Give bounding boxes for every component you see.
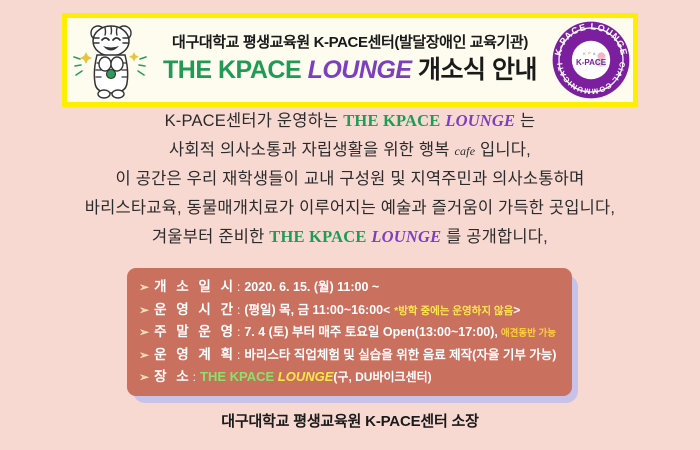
details-row-operating-hours: ➢ 운 영 시 간 : (평일) 목, 금 11:00~16:00 < *방학 … — [139, 298, 562, 321]
details-row-location: ➢ 장 소 : THE KPACE LOUNGE (구, DU바이크센터) — [139, 365, 562, 388]
body-line-5-lounge: LOUNGE — [371, 227, 441, 246]
details-note-open-angle: < — [383, 303, 390, 317]
footer-signature: 대구대학교 평생교육원 K-PACE센터 소장 — [0, 410, 700, 431]
details-value-program-plan: 바리스타 직업체험 및 실습을 위한 음료 제작(자율 기부 가능) — [244, 344, 556, 363]
body-paragraph: K-PACE센터가 운영하는 THE KPACE LOUNGE 는 사회적 의사… — [0, 113, 700, 258]
body-line-4: 바리스타교육, 동물매개치료가 이루어지는 예술과 즐거움이 가득한 곳입니다, — [0, 200, 700, 229]
details-label-operating-hours: 운 영 시 간 — [154, 298, 236, 318]
header-subtitle: 대구대학교 평생교육원 K-PACE센터(발달장애인 교육기관) — [155, 34, 545, 52]
header-title-kpace: THE KPACE — [163, 56, 301, 84]
header-banner: 대구대학교 평생교육원 K-PACE센터(발달장애인 교육기관) THE KPA… — [62, 13, 638, 107]
kpace-lounge-logo: K-PACE LOUNGE SOCIAL COMMUNICATION K-PAC… — [549, 18, 633, 102]
details-colon-4: : — [193, 370, 196, 384]
details-colon-0: : — [237, 280, 240, 294]
svg-text:K-PACE: K-PACE — [576, 58, 607, 67]
body-line-2-post: 입니다, — [475, 141, 531, 159]
body-line-2-pre: 사회적 의사소통과 자립생활을 위한 행복 — [169, 141, 454, 159]
details-row-program-plan: ➢ 운 영 계 획 : 바리스타 직업체험 및 실습을 위한 음료 제작(자율 … — [139, 343, 562, 366]
bullet-arrow-icon: ➢ — [139, 280, 149, 294]
body-line-3: 이 공간은 우리 재학생들이 교내 구성원 및 지역주민과 의사소통하며 — [0, 171, 700, 200]
details-colon-1: : — [237, 303, 240, 317]
details-location-suffix: (구, DU바이크센터) — [333, 368, 431, 385]
details-box: ➢ 개 소 일 시 : 2020. 6. 15. (월) 11:00 ~ ➢ 운… — [127, 268, 572, 396]
details-label-opening-date: 개 소 일 시 — [154, 275, 236, 295]
details-value-opening-date: 2020. 6. 15. (월) 11:00 ~ — [244, 276, 379, 295]
details-value-weekend: 7. 4 (토) 부터 매주 토요일 Open(13:00~17:00), — [244, 321, 498, 340]
body-line-2: 사회적 의사소통과 자립생활을 위한 행복 cafe 입니다, — [0, 142, 700, 171]
header-title-korean: 개소식 안내 — [418, 56, 537, 84]
body-line-5-post: 를 공개합니다, — [441, 228, 548, 246]
bullet-arrow-icon: ➢ — [139, 348, 149, 362]
body-line-1: K-PACE센터가 운영하는 THE KPACE LOUNGE 는 — [0, 113, 700, 142]
body-line-1-lounge: LOUNGE — [445, 111, 515, 130]
details-label-weekend: 주 말 운 영 — [154, 320, 236, 340]
details-label-program-plan: 운 영 계 획 — [154, 343, 236, 363]
details-colon-2: : — [237, 325, 240, 339]
body-line-1-kpace: THE KPACE — [343, 111, 440, 130]
white-tiger-mascot — [67, 18, 155, 102]
header-title-lounge: LOUNGE — [308, 56, 412, 84]
details-location-kpace: THE KPACE — [200, 369, 274, 384]
body-line-1-pre: K-PACE센터가 운영하는 — [165, 112, 344, 130]
details-row-weekend: ➢ 주 말 운 영 : 7. 4 (토) 부터 매주 토요일 Open(13:0… — [139, 320, 562, 343]
details-note-vacation: *방학 중에는 운영하지 않음 — [394, 303, 513, 318]
details-note-pet-allowed: 애견동반 가능 — [501, 325, 556, 339]
bullet-arrow-icon: ➢ — [139, 325, 149, 339]
details-row-opening-date: ➢ 개 소 일 시 : 2020. 6. 15. (월) 11:00 ~ — [139, 275, 562, 298]
body-line-5: 겨울부터 준비한 THE KPACE LOUNGE 를 공개합니다, — [0, 229, 700, 258]
header-title-block: 대구대학교 평생교육원 K-PACE센터(발달장애인 교육기관) THE KPA… — [155, 34, 549, 86]
details-colon-3: : — [237, 348, 240, 362]
body-line-1-post: 는 — [515, 112, 535, 130]
bullet-arrow-icon: ➢ — [139, 370, 149, 384]
body-line-5-pre: 겨울부터 준비한 — [152, 228, 269, 246]
details-note-close-angle: > — [513, 303, 520, 317]
body-line-5-kpace: THE KPACE — [269, 227, 366, 246]
body-line-2-cafe: cafe — [454, 144, 475, 158]
details-label-location: 장 소 — [154, 365, 192, 385]
header-title: THE KPACE LOUNGE 개소식 안내 — [155, 55, 545, 86]
details-value-operating-hours: (평일) 목, 금 11:00~16:00 — [244, 299, 383, 318]
bullet-arrow-icon: ➢ — [139, 303, 149, 317]
details-location-lounge: LOUNGE — [278, 369, 334, 384]
